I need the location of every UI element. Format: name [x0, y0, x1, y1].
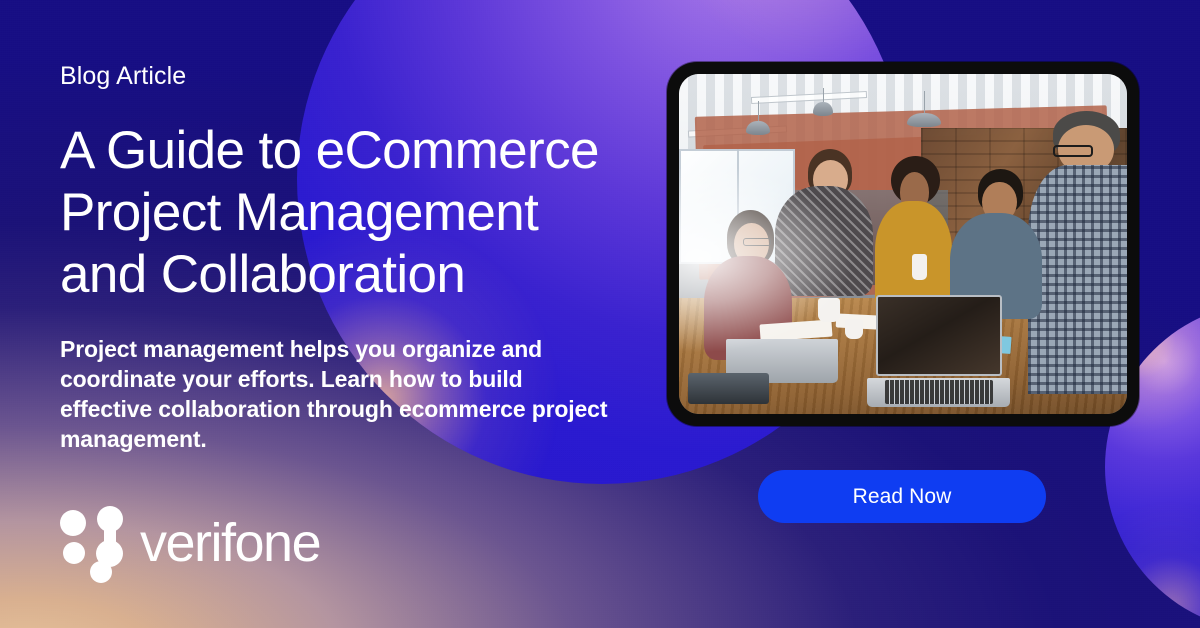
eyebrow-label: Blog Article	[60, 60, 186, 92]
subcopy-text: Project management helps you organize an…	[60, 334, 620, 454]
blog-article-promo-banner: Blog Article A Guide to eCommerce Projec…	[0, 0, 1200, 628]
office-team-meeting-photo	[679, 74, 1127, 414]
headline-line-1: A Guide to eCommerce	[60, 120, 660, 182]
headline-line-3: and Collaboration	[60, 244, 660, 306]
read-now-button[interactable]: Read Now	[758, 470, 1046, 523]
page-title: A Guide to eCommerce Project Management …	[60, 120, 660, 306]
hero-photo-card	[667, 62, 1139, 426]
headline-line-2: Project Management	[60, 182, 660, 244]
verifone-logo: verifone	[60, 503, 320, 577]
banner-text-content: Blog Article A Guide to eCommerce Projec…	[60, 0, 660, 628]
verifone-dots-logo-icon	[60, 504, 122, 576]
logo-wordmark: verifone	[140, 516, 320, 570]
